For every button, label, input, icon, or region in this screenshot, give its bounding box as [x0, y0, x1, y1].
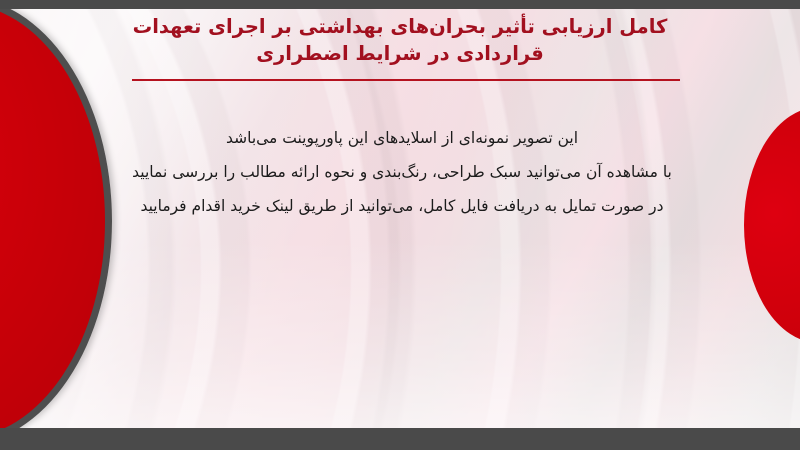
slide-title: کامل ارزیابی تأثیر بحران‌های بهداشتی بر …	[120, 13, 680, 67]
slide-body-line-2: با مشاهده آن می‌توانید سبک طراحی، رنگ‌بن…	[92, 155, 712, 189]
slide-title-line-2: قراردادی در شرایط اضطراری	[120, 40, 680, 67]
slide-canvas: کامل ارزیابی تأثیر بحران‌های بهداشتی بر …	[0, 9, 800, 428]
slide-frame: کامل ارزیابی تأثیر بحران‌های بهداشتی بر …	[0, 0, 800, 450]
slide-body-line-1: این تصویر نمونه‌ای از اسلایدهای این پاور…	[92, 121, 712, 155]
slide-body-text: این تصویر نمونه‌ای از اسلایدهای این پاور…	[92, 121, 712, 223]
slide-body-line-3: در صورت تمایل به دریافت فایل کامل، می‌تو…	[92, 189, 712, 223]
slide-title-line-1: کامل ارزیابی تأثیر بحران‌های بهداشتی بر …	[120, 13, 680, 40]
title-underline	[132, 79, 680, 81]
